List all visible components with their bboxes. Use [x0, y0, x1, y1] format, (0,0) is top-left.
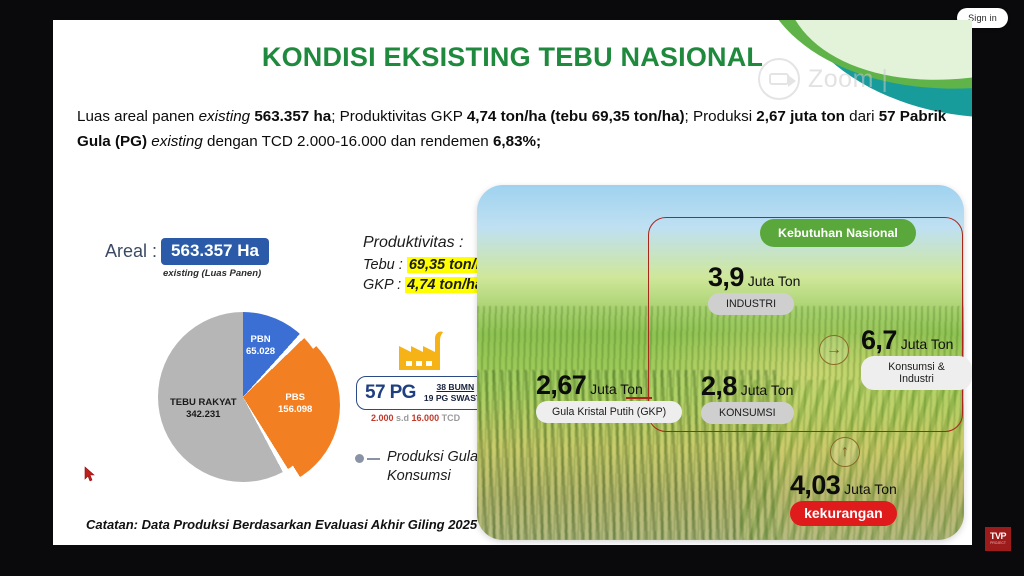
stat-total: 6,7Juta Ton Konsumsi & Industri: [861, 325, 972, 390]
stat-gkp-unit: Juta Ton: [590, 381, 643, 397]
intro-existing-2: existing: [151, 133, 203, 150]
areal-summary: Areal : 563.357 Ha: [105, 238, 269, 265]
stat-konsumsi-caption: KONSUMSI: [701, 402, 794, 424]
stat-industri-unit: Juta Ton: [748, 273, 801, 289]
productivity-gkp-row: GKP : 4,74 ton/ha: [363, 277, 495, 293]
pie-label-rakyat-value: 342.231: [170, 409, 237, 421]
stat-kekurangan: 4,03Juta Ton kekurangan: [790, 470, 897, 526]
intro-rendemen-value: 6,83%;: [493, 133, 541, 150]
intro-paragraph: Luas areal panen existing 563.357 ha; Pr…: [77, 105, 952, 154]
arrow-up-icon: ↑: [830, 437, 860, 467]
areal-label: Areal :: [105, 241, 157, 262]
tvp-logo-sub: PROJECT: [990, 541, 1006, 545]
productivity-title: Produktivitas :: [363, 234, 495, 252]
stat-gkp-value-row: 2,67Juta Ton: [536, 370, 682, 401]
stat-industri-caption: INDUSTRI: [708, 293, 794, 315]
productivity-block: Produktivitas : Tebu : 69,35 ton/ha GKP …: [363, 234, 495, 297]
stat-kekurangan-value: 4,03: [790, 470, 840, 500]
legend-line-icon: [367, 458, 380, 460]
tcd-range: 2.000 s.d 16.000 TCD: [371, 413, 460, 423]
pie-label-rakyat-name: TEBU RAKYAT: [170, 397, 237, 409]
presentation-slide: Zoom | KONDISI EKSISTING TEBU NASIONAL L…: [53, 20, 972, 545]
productivity-gkp-label: GKP :: [363, 277, 405, 293]
pie-label-pbn-value: 65.028: [246, 346, 275, 358]
pie-label-pbs: PBS 156.098: [278, 392, 312, 415]
legend-produksi-gula: Produksi Gula Konsumsi: [355, 448, 478, 485]
stat-industri: 3,9Juta Ton INDUSTRI: [708, 262, 800, 315]
pie-label-pbs-name: PBS: [278, 392, 312, 404]
tcd-from: 2.000: [371, 413, 394, 423]
kebutuhan-nasional-badge: Kebutuhan Nasional: [760, 219, 916, 247]
stat-industri-value: 3,9: [708, 262, 744, 292]
legend-line-1: Produksi Gula: [387, 448, 478, 467]
tvp-logo-main: TVP: [990, 532, 1006, 541]
intro-seg-4: dari: [845, 108, 879, 125]
productivity-tebu-label: Tebu :: [363, 257, 407, 273]
stat-konsumsi-unit: Juta Ton: [741, 382, 794, 398]
areal-pie-chart: PBN 65.028 PBS 156.098 TEBU RAKYAT 342.2…: [158, 312, 343, 497]
stat-konsumsi: 2,8Juta Ton KONSUMSI: [701, 371, 794, 424]
stat-gkp: 2,67Juta Ton Gula Kristal Putih (GKP): [536, 370, 682, 423]
intro-seg-2: ; Produktivitas GKP: [331, 108, 467, 125]
intro-production-value: 2,67 juta ton: [756, 108, 845, 125]
screen: Sign in Zoom | KONDISI EKSISTING TEBU NA…: [0, 0, 1024, 576]
arrow-right-glyph: →: [826, 342, 842, 358]
pabrik-gula-count: 57 PG: [365, 382, 416, 404]
tcd-sd: s.d: [394, 413, 412, 423]
intro-area-value: 563.357 ha: [254, 108, 331, 125]
intro-gkp-value: 4,74 ton/ha (tebu 69,35 ton/ha): [467, 108, 685, 125]
stat-kekurangan-unit: Juta Ton: [844, 481, 897, 497]
intro-seg-1: Luas areal panen: [77, 108, 199, 125]
intro-seg-3: ; Produksi: [685, 108, 757, 125]
factory-icon: [393, 326, 449, 372]
stat-kekurangan-badge: kekurangan: [790, 501, 897, 526]
stat-konsumsi-value: 2,8: [701, 371, 737, 401]
legend-text: Produksi Gula Konsumsi: [387, 448, 478, 485]
tcd-unit: TCD: [439, 413, 460, 423]
page-title: KONDISI EKSISTING TEBU NASIONAL: [53, 42, 972, 73]
productivity-gkp-value: 4,74 ton/ha: [405, 277, 485, 293]
stat-konsumsi-value-row: 2,8Juta Ton: [701, 371, 794, 402]
stat-total-value: 6,7: [861, 325, 897, 355]
pie-label-pbn-name: PBN: [246, 334, 275, 346]
tvp-logo: TVP PROJECT: [985, 527, 1011, 551]
arrow-up-glyph: ↑: [841, 444, 849, 460]
legend-line-2: Konsumsi: [387, 467, 478, 486]
footnote: Catatan: Data Produksi Berdasarkan Evalu…: [86, 517, 477, 532]
productivity-tebu-row: Tebu : 69,35 ton/ha: [363, 257, 495, 273]
mouse-cursor: [84, 466, 96, 482]
areal-value-chip: 563.357 Ha: [161, 238, 269, 265]
stat-total-unit: Juta Ton: [901, 336, 954, 352]
intro-seg-5: dengan TCD 2.000-16.000 dan rendemen: [203, 133, 493, 150]
legend-dot-icon: [355, 454, 364, 463]
intro-existing-1: existing: [199, 108, 251, 125]
stat-industri-value-row: 3,9Juta Ton: [708, 262, 800, 293]
pie-label-pbn: PBN 65.028: [246, 334, 275, 357]
tcd-to: 16.000: [412, 413, 440, 423]
stat-kekurangan-value-row: 4,03Juta Ton: [790, 470, 897, 501]
stat-total-caption: Konsumsi & Industri: [861, 356, 972, 390]
arrow-right-icon: →: [819, 335, 849, 365]
stat-total-value-row: 6,7Juta Ton: [861, 325, 972, 356]
pie-label-pbs-value: 156.098: [278, 404, 312, 416]
pie-label-tebu-rakyat: TEBU RAKYAT 342.231: [170, 397, 237, 420]
stat-gkp-value: 2,67: [536, 370, 586, 400]
areal-sublabel: existing (Luas Panen): [163, 268, 261, 279]
stat-gkp-caption: Gula Kristal Putih (GKP): [536, 401, 682, 423]
